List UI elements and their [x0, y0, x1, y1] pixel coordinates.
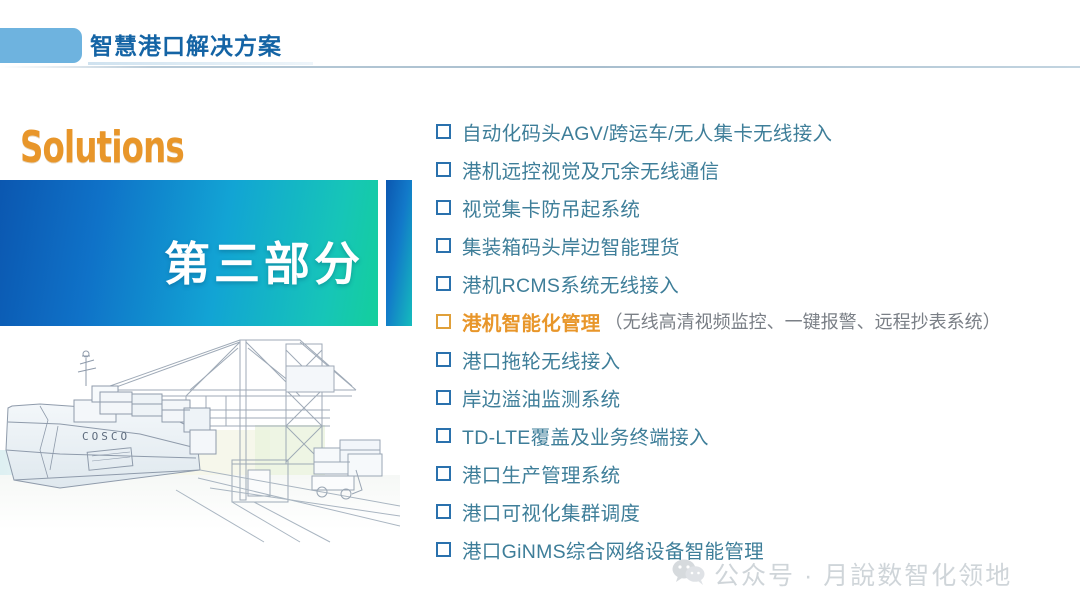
list-item-label: 港机智能化管理	[462, 307, 601, 336]
list-item[interactable]: 视觉集卡防吊起系统	[432, 188, 1072, 226]
checkbox-square-icon	[436, 390, 451, 405]
list-item-label: 岸边溢油监测系统	[462, 383, 620, 412]
checkbox-square-icon	[436, 124, 451, 139]
list-item[interactable]: 集装箱码头岸边智能理货	[432, 226, 1072, 264]
checkbox-square-icon	[436, 314, 451, 329]
checkbox-square-icon	[436, 162, 451, 177]
page-title: 智慧港口解决方案	[90, 27, 282, 61]
port-illustration: COSCO	[0, 330, 400, 545]
list-item-label: 港口可视化集群调度	[462, 497, 640, 526]
watermark: 公众号 · 月說数智化领地	[672, 556, 1012, 592]
wechat-icon	[672, 558, 706, 591]
ship-name-text: COSCO	[82, 430, 130, 443]
list-item[interactable]: TD-LTE覆盖及业务终端接入	[432, 416, 1072, 454]
list-item[interactable]: 港机RCMS系统无线接入	[432, 264, 1072, 302]
checkbox-square-icon	[436, 200, 451, 215]
checkbox-square-icon	[436, 542, 451, 557]
list-item[interactable]: 港口生产管理系统	[432, 454, 1072, 492]
banner-accent-strip	[386, 180, 412, 326]
list-item-label: 港口生产管理系统	[462, 459, 620, 488]
list-item-label: TD-LTE覆盖及业务终端接入	[462, 421, 709, 450]
list-item-label: 视觉集卡防吊起系统	[462, 193, 640, 222]
list-item-label: 港机RCMS系统无线接入	[462, 269, 679, 298]
list-item-label: 港口拖轮无线接入	[462, 345, 620, 374]
list-item-label: 自动化码头AGV/跨运车/无人集卡无线接入	[462, 117, 832, 146]
list-item[interactable]: 港口拖轮无线接入	[432, 340, 1072, 378]
solutions-list: 自动化码头AGV/跨运车/无人集卡无线接入 港机远控视觉及冗余无线通信 视觉集卡…	[432, 112, 1072, 568]
section-banner: 第三部分	[0, 180, 412, 326]
list-item-note: （无线高清视频监控、一键报警、远程抄表系统）	[605, 308, 1001, 334]
checkbox-square-icon	[436, 504, 451, 519]
checkbox-square-icon	[436, 466, 451, 481]
header-tab-accent-icon	[0, 28, 82, 63]
checkbox-square-icon	[436, 238, 451, 253]
list-item[interactable]: 港口可视化集群调度	[432, 492, 1072, 530]
checkbox-square-icon	[436, 428, 451, 443]
title-underline	[88, 62, 313, 65]
list-item[interactable]: 港机远控视觉及冗余无线通信	[432, 150, 1072, 188]
watermark-text: 公众号 · 月說数智化领地	[714, 556, 1012, 592]
list-item-highlighted[interactable]: 港机智能化管理 （无线高清视频监控、一键报警、远程抄表系统）	[432, 302, 1072, 340]
checkbox-square-icon	[436, 352, 451, 367]
solutions-label: Solutions	[20, 122, 184, 173]
list-item-label: 港机远控视觉及冗余无线通信	[462, 155, 719, 184]
header-divider	[0, 66, 1080, 68]
list-item[interactable]: 岸边溢油监测系统	[432, 378, 1072, 416]
list-item[interactable]: 自动化码头AGV/跨运车/无人集卡无线接入	[432, 112, 1072, 150]
checkbox-square-icon	[436, 276, 451, 291]
page-header: 智慧港口解决方案	[0, 0, 1080, 70]
section-banner-title: 第三部分	[164, 228, 364, 294]
list-item-label: 集装箱码头岸边智能理货	[462, 231, 680, 260]
banner-main-panel: 第三部分	[0, 180, 378, 326]
